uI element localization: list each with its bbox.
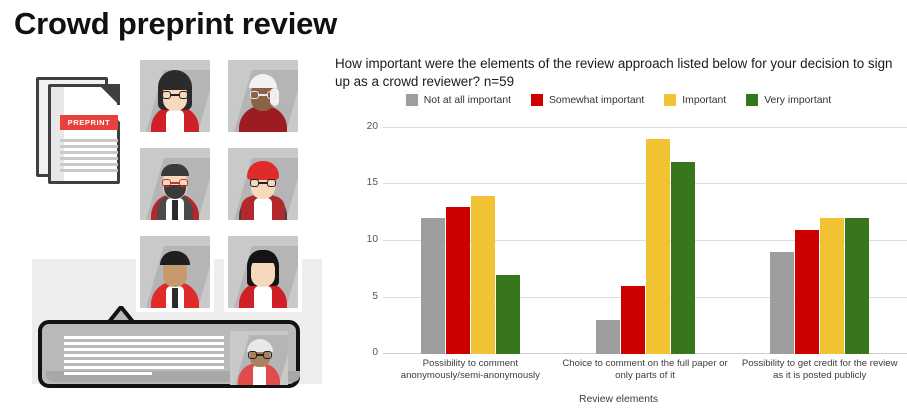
reviewer-avatar-grid — [132, 60, 312, 325]
y-tick-label: 5 — [358, 291, 378, 302]
legend-item[interactable]: Somewhat important — [531, 94, 644, 106]
avatar — [140, 236, 210, 308]
document-margin-stripe — [51, 87, 64, 181]
legend-item[interactable]: Not at all important — [406, 94, 511, 106]
bar-group — [558, 127, 733, 354]
bar[interactable] — [770, 252, 794, 354]
bubble-text-line — [64, 336, 224, 339]
page-title: Crowd preprint review — [14, 6, 337, 42]
document-fold-corner — [98, 84, 120, 106]
bar-group — [383, 127, 558, 354]
avatar-tie — [172, 200, 178, 220]
avatar-shirt — [254, 198, 272, 220]
bubble-text-line — [64, 360, 224, 363]
bar[interactable] — [421, 218, 445, 354]
x-tick-label: Possibility to get credit for the review… — [732, 358, 907, 392]
preprint-document-icon: PREPRINT — [36, 77, 136, 187]
bar[interactable] — [671, 162, 695, 354]
bubble-text-line — [64, 372, 152, 375]
y-tick-label: 10 — [358, 234, 378, 245]
x-axis-title: Review elements — [330, 394, 907, 405]
legend-label: Not at all important — [424, 95, 511, 106]
bar-groups — [383, 127, 907, 354]
bar[interactable] — [596, 320, 620, 354]
y-tick-label: 0 — [358, 347, 378, 358]
legend-label: Important — [682, 95, 726, 106]
bar[interactable] — [795, 230, 819, 354]
bar[interactable] — [621, 286, 645, 354]
x-tick-label: Choice to comment on the full paper or o… — [558, 358, 733, 392]
legend-swatch — [406, 94, 418, 106]
bubble-text-line — [64, 354, 224, 357]
bar[interactable] — [471, 196, 495, 354]
document-text-line — [60, 163, 118, 166]
avatar-shirt — [254, 110, 272, 132]
bar[interactable] — [496, 275, 520, 354]
legend-item[interactable]: Very important — [746, 94, 831, 106]
bubble-text-line — [64, 366, 224, 369]
chart-title: How important were the elements of the r… — [335, 55, 893, 91]
x-axis-labels: Possibility to comment anonymously/semi-… — [383, 358, 907, 392]
glasses-icon — [248, 351, 272, 359]
avatar — [228, 148, 298, 220]
legend-item[interactable]: Important — [664, 94, 726, 106]
bubble-body — [38, 320, 300, 388]
legend-label: Somewhat important — [549, 95, 644, 106]
legend-label: Very important — [764, 95, 831, 106]
glasses-icon — [162, 179, 188, 187]
bar[interactable] — [646, 139, 670, 354]
legend-swatch — [664, 94, 676, 106]
chart-legend: Not at all important Somewhat important … — [330, 94, 907, 106]
bar[interactable] — [845, 218, 869, 354]
bar[interactable] — [820, 218, 844, 354]
glasses-icon — [250, 179, 276, 187]
y-tick-label: 20 — [358, 121, 378, 132]
avatar — [228, 236, 298, 308]
avatar — [140, 60, 210, 132]
document-text-line — [60, 145, 118, 148]
crowd-review-illustration: PREPRINT — [0, 52, 330, 397]
document-text-line — [60, 169, 118, 172]
y-tick-label: 15 — [358, 177, 378, 188]
bubble-text-line — [64, 342, 224, 345]
glasses-icon — [162, 91, 188, 99]
document-text-line — [60, 157, 118, 160]
x-tick-label: Possibility to comment anonymously/semi-… — [383, 358, 558, 392]
avatar — [230, 331, 288, 385]
bar[interactable] — [446, 207, 470, 354]
document-text-line — [60, 151, 118, 154]
bar-group — [732, 127, 907, 354]
slide-canvas: Crowd preprint review PREPRINT — [0, 0, 907, 413]
legend-swatch — [531, 94, 543, 106]
bar-chart: How important were the elements of the r… — [330, 50, 907, 413]
avatar-shirt — [254, 286, 272, 308]
legend-swatch — [746, 94, 758, 106]
document-text-line — [60, 139, 118, 142]
avatar-shirt — [253, 365, 266, 385]
review-comment-bubble — [38, 308, 308, 388]
document-front-page: PREPRINT — [48, 84, 120, 184]
glasses-icon — [250, 91, 276, 99]
avatar — [140, 148, 210, 220]
bubble-text-line — [64, 348, 224, 351]
plot-area: 20 15 10 5 0 — [358, 127, 907, 354]
avatar-shirt — [166, 110, 184, 132]
avatar-tie — [172, 288, 178, 308]
preprint-badge: PREPRINT — [60, 115, 118, 130]
avatar — [228, 60, 298, 132]
